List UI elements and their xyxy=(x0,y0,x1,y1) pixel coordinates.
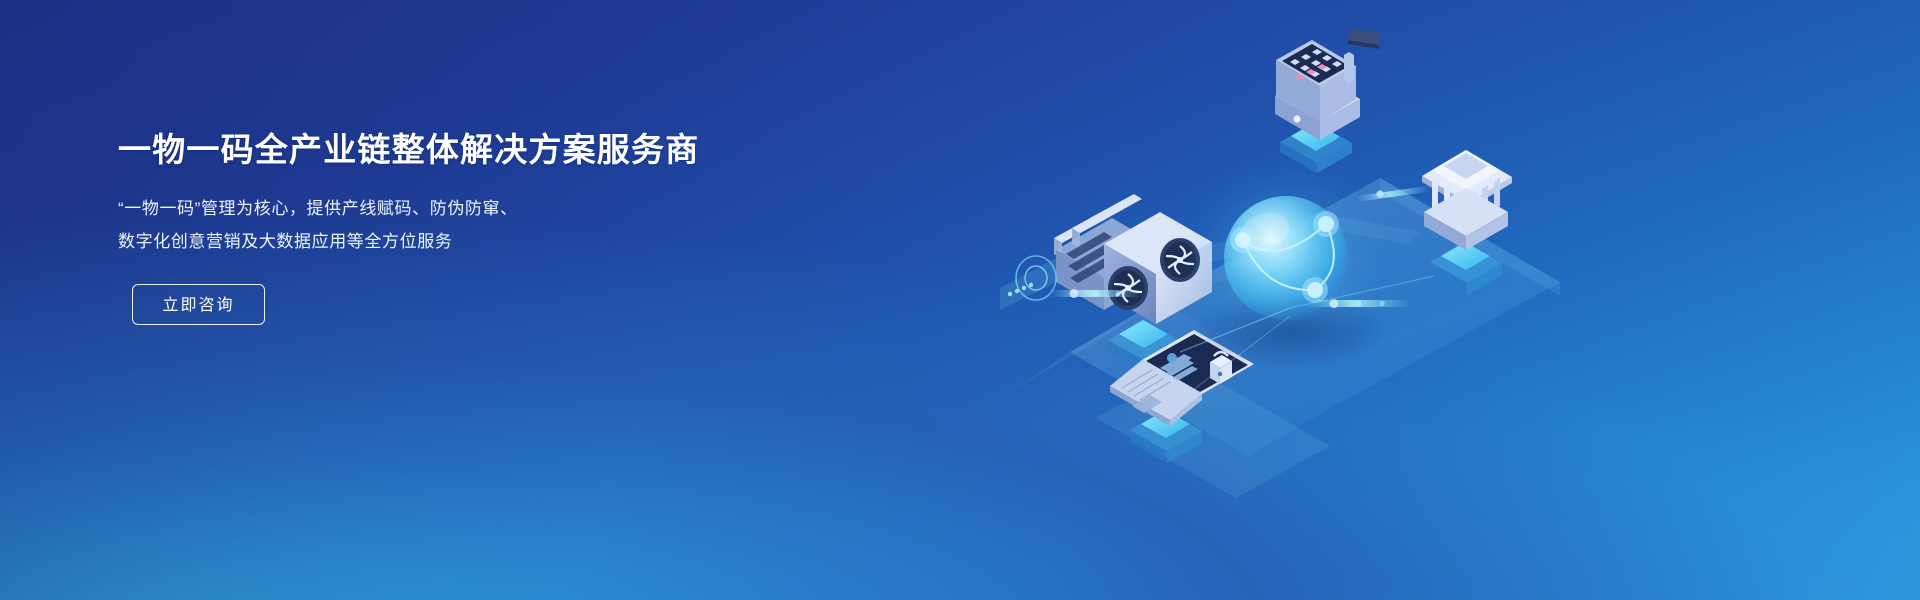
hero-subtitle-line-2: 数字化创意营销及大数据应用等全方位服务 xyxy=(118,225,818,258)
page-title: 一物一码全产业链整体解决方案服务商 xyxy=(118,130,818,170)
network-sphere xyxy=(1182,156,1390,368)
consult-now-button[interactable]: 立即咨询 xyxy=(132,284,265,325)
pos-terminal-icon xyxy=(1275,28,1380,173)
hero-copy-block: 一物一码全产业链整体解决方案服务商 “一物一码”管理为核心，提供产线赋码、防伪防… xyxy=(118,130,818,325)
hero-subtitle-line-1: “一物一码”管理为核心，提供产线赋码、防伪防窜、 xyxy=(118,192,818,225)
scanner-beam xyxy=(1000,256,1056,310)
bank-building-icon xyxy=(1422,150,1512,295)
hero-illustration xyxy=(860,0,1600,600)
hero-subtitle: “一物一码”管理为核心，提供产线赋码、防伪防窜、 数字化创意营销及大数据应用等全… xyxy=(118,192,818,258)
hero-banner: 一物一码全产业链整体解决方案服务商 “一物一码”管理为核心，提供产线赋码、防伪防… xyxy=(0,0,1920,600)
cta-container: 立即咨询 xyxy=(118,284,818,325)
